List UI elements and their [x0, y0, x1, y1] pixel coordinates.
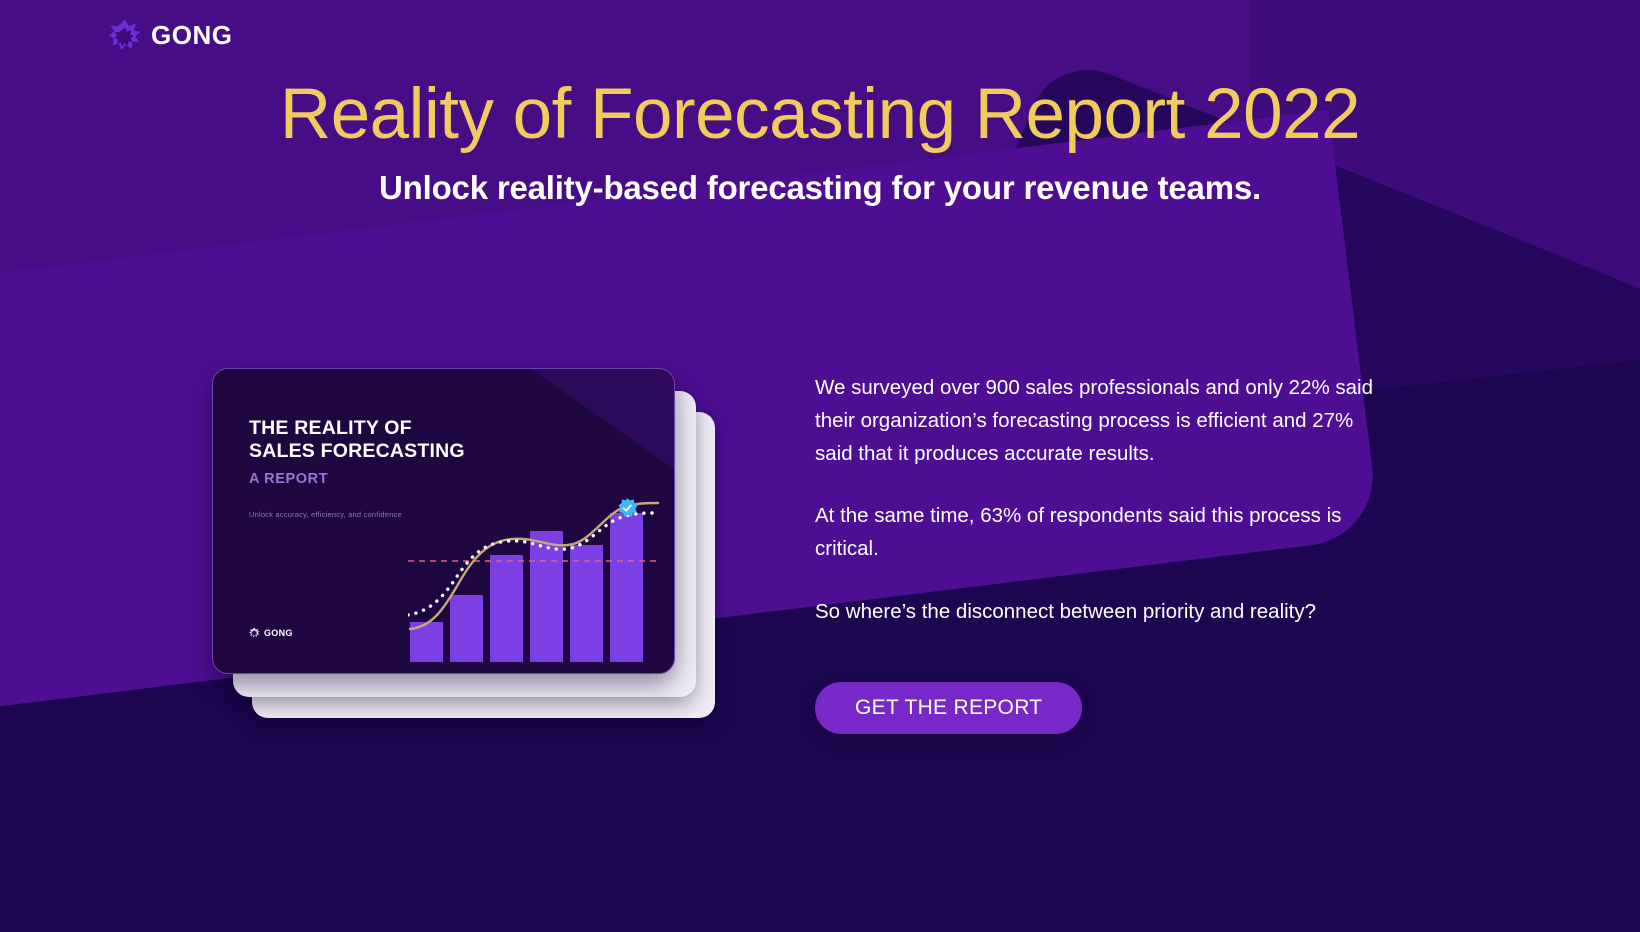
cover-brand-name: GONG [264, 628, 293, 638]
description-paragraph-1: We surveyed over 900 sales professionals… [815, 372, 1395, 470]
cover-tagline: Unlock accuracy, efficiency, and confide… [249, 510, 402, 519]
report-cover-front[interactable]: THE REALITY OF SALES FORECASTING A REPOR… [212, 368, 675, 674]
chart-bar-3 [490, 555, 523, 662]
cover-subtitle: A REPORT [249, 471, 328, 487]
page-root: GONG Reality of Forecasting Report 2022 … [0, 0, 1640, 932]
cover-title-line-2: SALES FORECASTING [249, 440, 465, 463]
report-cover-mockup[interactable]: THE REALITY OF SALES FORECASTING A REPOR… [212, 368, 722, 718]
description-paragraph-2: At the same time, 63% of respondents sai… [815, 500, 1395, 566]
brand-logo[interactable]: GONG [108, 18, 232, 52]
cover-brand-logo: GONG [249, 627, 293, 638]
gong-starburst-icon [108, 18, 142, 52]
brand-name: GONG [151, 22, 232, 48]
hero-section: Reality of Forecasting Report 2022 Unloc… [0, 78, 1640, 207]
cover-title: THE REALITY OF SALES FORECASTING [249, 417, 465, 463]
chart-bar-6 [610, 513, 643, 662]
chart-bar-5 [570, 545, 603, 662]
background-navy-bottom-band [0, 812, 1640, 932]
chart-bar-2 [450, 595, 483, 662]
chart-bar-4 [530, 531, 563, 662]
page-title: Reality of Forecasting Report 2022 [0, 78, 1640, 153]
cover-bar-chart [408, 477, 660, 662]
report-description: We surveyed over 900 sales professionals… [815, 372, 1395, 629]
description-paragraph-3: So where’s the disconnect between priori… [815, 596, 1395, 629]
page-subtitle: Unlock reality-based forecasting for you… [0, 169, 1640, 207]
gong-starburst-icon [249, 627, 260, 638]
get-the-report-button[interactable]: GET THE REPORT [815, 682, 1082, 734]
cover-title-line-1: THE REALITY OF [249, 417, 465, 440]
